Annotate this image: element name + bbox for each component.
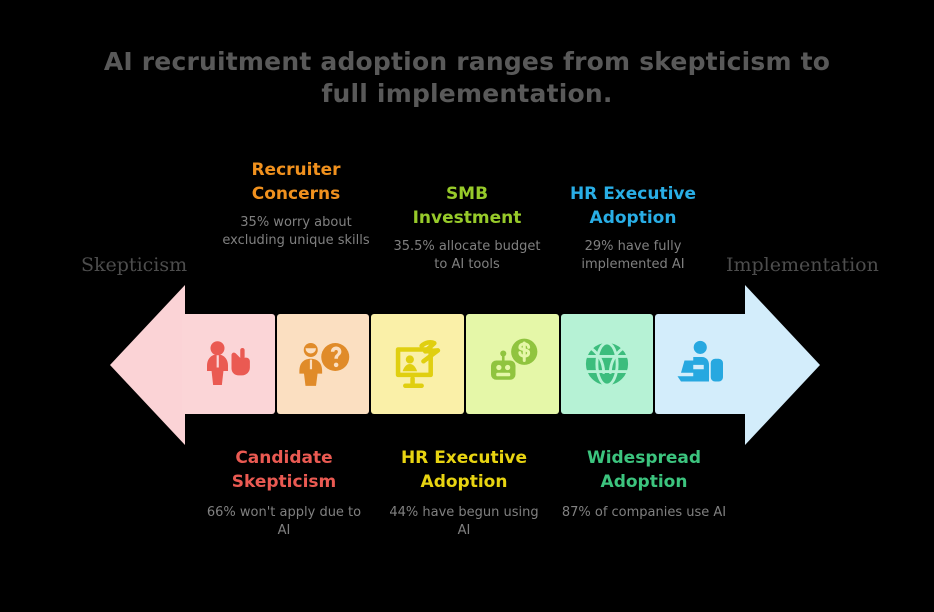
callout-top-3: HR Executive Adoption 29% have fully imp…: [553, 182, 713, 274]
callout-heading: Widespread Adoption: [556, 446, 732, 494]
person-question-icon: [295, 336, 351, 392]
callout-detail: 35% worry about excluding unique skills: [216, 214, 376, 250]
callout-heading: Candidate Skepticism: [200, 446, 368, 494]
stage-segment-2[interactable]: [277, 314, 370, 414]
globe-network-icon: [580, 337, 634, 391]
robot-money-icon: [484, 336, 540, 392]
person-rejection-icon: [200, 336, 256, 392]
callout-heading: HR Executive Adoption: [553, 182, 713, 230]
axis-label-left: Skepticism: [81, 254, 187, 276]
monitor-resume-screening-icon: [389, 335, 447, 393]
callout-bottom-3: Widespread Adoption 87% of companies use…: [556, 446, 732, 522]
callout-detail: 29% have fully implemented AI: [553, 238, 713, 274]
callout-heading: SMB Investment: [390, 182, 544, 230]
callout-bottom-2: HR Executive Adoption 44% have begun usi…: [385, 446, 543, 540]
axis-label-right: Implementation: [726, 254, 879, 276]
infographic-canvas: AI recruitment adoption ranges from skep…: [0, 0, 934, 612]
stage-segment-3[interactable]: [371, 314, 464, 414]
callout-top-2: SMB Investment 35.5% allocate budget to …: [390, 182, 544, 274]
callout-detail: 87% of companies use AI: [556, 504, 732, 522]
callout-heading: HR Executive Adoption: [385, 446, 543, 494]
callout-heading: Recruiter Concerns: [216, 158, 376, 206]
stage-segment-list: [182, 314, 748, 414]
callout-detail: 35.5% allocate budget to AI tools: [390, 238, 544, 274]
callout-bottom-1: Candidate Skepticism 66% won't apply due…: [200, 446, 368, 540]
callout-detail: 44% have begun using AI: [385, 504, 543, 540]
left-arrowhead-icon: [110, 285, 185, 445]
stage-segment-6[interactable]: [655, 314, 748, 414]
callout-top-1: Recruiter Concerns 35% worry about exclu…: [216, 158, 376, 250]
adoption-spectrum-arrow: [110, 285, 820, 445]
callout-detail: 66% won't apply due to AI: [200, 504, 368, 540]
page-title: AI recruitment adoption ranges from skep…: [77, 46, 857, 110]
person-laptop-working-icon: [674, 336, 730, 392]
stage-segment-5[interactable]: [561, 314, 654, 414]
stage-segment-1[interactable]: [182, 314, 275, 414]
stage-segment-4[interactable]: [466, 314, 559, 414]
right-arrowhead-icon: [745, 285, 820, 445]
